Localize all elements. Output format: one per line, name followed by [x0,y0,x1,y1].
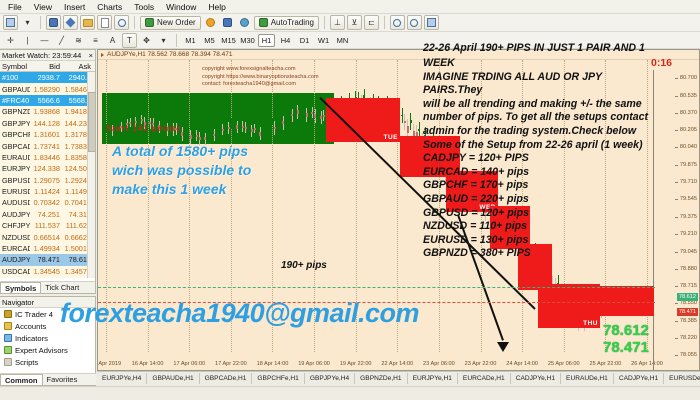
market-watch-row[interactable]: AUDJPYe78.47178.612 [0,254,95,265]
navigator-item-scripts[interactable]: Scripts [0,356,95,368]
expert-advisors-icon [4,346,12,354]
scrollbar-thumb[interactable] [88,92,96,152]
bid-cell: 0.70342 [30,198,62,207]
scripts-icon [4,358,12,366]
bid-cell: 1.73741 [30,142,62,151]
column-header-ask[interactable]: Ask [62,62,93,71]
navigator-label-2: Indicators [15,334,48,343]
market-watch-row[interactable]: EURUSDe1.114241.11498 [0,186,95,197]
symbol-cell: GBPNZDe [0,107,30,116]
bid-cell: 1.93868 [30,107,62,116]
menu-item-insert[interactable]: Insert [58,2,91,12]
symbol-cell: GBPJPYe [0,119,30,128]
promo-line-8: GBPCHF = 170+ pips [423,179,655,193]
symbol-cell: AUDUSDe [0,198,30,207]
start-trend-label: Start 141 points [106,124,182,133]
promo-line-0: WEEK [423,57,655,71]
market-watch-row[interactable]: CHFJPYe111.537111.627 [0,220,95,231]
promo-line-10: GBPUSD = 120+ pips [423,207,655,221]
navigator-label-0: IC Trader 4 [15,310,53,319]
bid-cell: 111.537 [30,221,62,230]
zoom-in-icon[interactable] [390,15,405,30]
period-m1[interactable]: M1 [182,34,199,47]
market-watch-row[interactable]: #FRC405566.65568.7 [0,95,95,106]
big-bid-price: 78.471 [603,339,649,356]
clock-label: 0:16 [651,57,672,69]
arrow-head-icon [497,342,509,352]
promo-line-4: admin for the trading system.Check below [423,125,655,139]
bid-cell: 1.29075 [30,176,62,185]
zoom-chart-icon[interactable] [114,15,129,30]
market-watch-row[interactable]: EURNZDe1.673501.67520 [0,277,95,278]
symbol-cell: GBPCADe [0,142,30,151]
metaeditor-icon[interactable] [237,15,252,30]
bid-cell: 1.83446 [30,153,62,162]
crosshair-icon[interactable] [63,15,78,30]
status-bar [0,386,700,400]
symbol-cell: AUDJPYe [0,210,30,219]
market-watch-rows: #1002938.72940.5GBPAUDe1.582901.58468#FR… [0,72,95,278]
zoom-out-icon[interactable] [407,15,422,30]
period-h1[interactable]: H1 [258,34,275,47]
bar-chart-icon[interactable] [46,15,61,30]
tile-windows-icon[interactable] [424,15,439,30]
toolbar-separator-5 [176,34,177,47]
save-icon[interactable] [3,15,18,30]
period-w1[interactable]: W1 [315,34,332,47]
bid-cell: 1.49934 [30,244,62,253]
chart-title: AUDJPYe,H1 78.562 78.668 78.394 78.471 [107,51,233,58]
menu-item-view[interactable]: View [28,2,58,12]
market-watch-row[interactable]: NZDUSDe0.665140.66623 [0,231,95,242]
horizontal-line-icon[interactable]: — [37,33,52,48]
symbol-cell: GBPAUDe [0,85,30,94]
big-ask-price: 78.612 [603,322,649,339]
symbol-cell: EURUSDe [0,187,30,196]
copyright-line-1: copyright www.forexsignalteacha.com [202,66,296,74]
promo-line-5: Some of the Setup from 22-26 april (1 we… [423,139,655,153]
pips-label: 190+ pips [281,260,327,271]
indicator-list-icon[interactable]: ⊥ [330,15,345,30]
bid-cell: 0.66514 [30,233,62,242]
new-order-button[interactable]: New Order [140,16,201,30]
market-watch-row[interactable]: GBPCHFe1.316011.31789 [0,129,95,140]
promo-line-2: will be all trending and making +/- the … [423,98,655,112]
copyright-line-2: copyright https://www.binaryoptionsteach… [202,74,319,82]
navigator-item-indicators[interactable]: Indicators [0,332,95,344]
toolbar-separator-3 [324,16,325,29]
promo-line-6: CADJPY = 120+ PIPS [423,152,655,166]
main-toolbar: ▾ New Order AutoTrading ⊥ ⊻ ⊏ [0,14,700,32]
chart-tab-gbpcade-h1[interactable]: GBPCADe,H1 [200,373,253,384]
symbol-cell: USDCADe [0,267,30,276]
period-d1[interactable]: D1 [296,34,313,47]
bid-cell: 1.58290 [30,85,62,94]
promo-line-7: EURCAD = 140+ pips [423,166,655,180]
market-watch-row[interactable]: GBPUSDe1.290751.29241 [0,175,95,186]
navigator-tabs: Common Favorites [0,373,96,385]
chart-tab-eurjpye-h4[interactable]: EURJPYe,H4 [97,373,147,384]
symbol-cell: #FRC40 [0,96,30,105]
period-separator-icon[interactable]: ⊻ [347,15,362,30]
market-watch-header: Symbol Bid Ask [0,61,95,72]
column-header-symbol[interactable]: Symbol [0,62,30,71]
chart-tab-eurjpye-h1[interactable]: EURJPYe,H1 [408,373,458,384]
menu-bar: File View Insert Charts Tools Window Hel… [0,0,700,14]
chart-tab-gbpaude-h1[interactable]: GBPAUDe,H1 [147,373,199,384]
line-chart-icon[interactable] [97,15,112,30]
market-watch-panel: Market Watch: 23:59:44 × Symbol Bid Ask … [0,49,96,294]
shapes-dropdown-icon[interactable]: ▾ [156,33,171,48]
book-icon [4,310,12,318]
autotrading-label: AutoTrading [271,18,314,27]
promo-line-9: GBPAUD = 220+ pips [423,193,655,207]
email-watermark: forexteacha1940@gmail.com [60,298,419,329]
menu-item-tools[interactable]: Tools [128,2,160,12]
autotrading-button[interactable]: AutoTrading [254,16,319,30]
toolbar-separator [40,16,41,29]
alert-icon[interactable] [203,15,218,30]
period-h4[interactable]: H4 [277,34,294,47]
market-watch-row[interactable]: EURAUDe1.834461.83586 [0,152,95,163]
new-order-label: New Order [157,18,196,27]
symbol-cell: EURJPYe [0,164,30,173]
text-tool-label: A [110,36,115,45]
market-watch-row[interactable]: GBPJPYe144.128144.236 [0,118,95,129]
market-watch-row[interactable]: GBPNZDe1.938681.94182 [0,106,95,117]
bid-cell: 1.34545 [30,267,62,276]
promo-line-11: NZDUSD = 110+ pips [423,220,655,234]
toolbar-separator-2 [134,16,135,29]
navigator-item-expert-advisors[interactable]: Expert Advisors [0,344,95,356]
market-watch-row[interactable]: EURCADe1.499341.50013 [0,243,95,254]
fibonacci-icon[interactable]: ≡ [88,33,103,48]
menu-item-window[interactable]: Window [160,2,202,12]
menu-item-file[interactable]: File [2,2,28,12]
market-watch-row[interactable]: AUDUSDe0.703420.70418 [0,197,95,208]
chart-tab-euraude-h1[interactable]: EURAUDe,H1 [561,373,614,384]
symbol-cell: AUDJPYe [0,255,30,264]
vertical-line-icon[interactable]: | [20,33,35,48]
market-watch-row[interactable]: GBPCADe1.737411.73834 [0,140,95,151]
promo-text-block: WEEKIMAGINE TRDING ALL AUD OR JPY PAIRS.… [423,57,655,261]
toolbar-separator-4 [384,16,385,29]
menu-item-help[interactable]: Help [202,2,231,12]
period-m5[interactable]: M5 [201,34,218,47]
candlestick-icon[interactable] [80,15,95,30]
text-label-icon[interactable]: T [122,33,137,48]
symbol-cell: #100 [0,73,30,82]
text-tool-icon[interactable]: A [105,33,120,48]
bid-cell: 78.471 [30,255,62,264]
bid-cell: 124.338 [30,164,62,173]
chart-tabs-bar: EURJPYe,H4GBPAUDe,H1GBPCADe,H1GBPCHFe,H1… [97,371,700,384]
chevron-right-icon[interactable] [101,53,104,57]
bid-cell: 2938.7 [30,73,62,82]
menu-item-charts[interactable]: Charts [91,2,128,12]
chart-tab-gbpjpye-h4[interactable]: GBPJPYe,H4 [305,373,355,384]
bid-cell: 144.128 [30,119,62,128]
bid-cell: 1.11424 [30,187,62,196]
blue-note-line-1: A total of 1580+ pips [112,142,248,161]
terminal-icon[interactable] [220,15,235,30]
accounts-icon [4,322,12,330]
mt4-application-window: File View Insert Charts Tools Window Hel… [0,0,700,400]
symbol-cell: GBPUSDe [0,176,30,185]
symbol-cell: EURAUDe [0,153,30,162]
symbol-cell: GBPCHFe [0,130,30,139]
symbol-cell: EURCADe [0,244,30,253]
tab-common[interactable]: Common [0,374,43,385]
promo-line-13: GBPNZD = 380+ PIPS [423,247,655,261]
tab-favorites[interactable]: Favorites [43,374,82,385]
market-watch-row[interactable]: AUDJPYe74.25174.318 [0,209,95,220]
tab-symbols[interactable]: Symbols [0,282,41,293]
market-watch-tabs: Symbols Tick Chart [0,281,96,293]
shapes-icon[interactable]: ✥ [139,33,154,48]
column-header-bid[interactable]: Bid [30,62,62,71]
chart-tab-cadjpye-h1[interactable]: CADJPYe,H1 [511,373,561,384]
market-watch-scrollbar[interactable] [87,72,95,278]
navigator-label-3: Expert Advisors [15,346,68,355]
autotrading-icon [259,18,268,27]
market-watch-titlebar: Market Watch: 23:59:44 × [0,50,95,61]
chevron-down-icon[interactable]: ▾ [20,15,35,30]
blue-note-line-3: make this 1 week [112,180,226,199]
equidistant-channel-icon[interactable]: ≋ [71,33,86,48]
new-order-icon [145,18,154,27]
headline-annotation: 22-26 April 190+ PIPS IN JUST 1 PAIR AND… [423,42,693,54]
bid-cell: 74.251 [30,210,62,219]
market-watch-row[interactable]: GBPAUDe1.582901.58468 [0,83,95,94]
period-mn[interactable]: MN [334,34,351,47]
grid-toggle-icon[interactable]: ⊏ [364,15,379,30]
indicators-icon [4,334,12,342]
symbol-cell: NZDUSDe [0,233,30,242]
symbol-cell: CHFJPYe [0,221,30,230]
bid-cell: 1.31601 [30,130,62,139]
close-icon[interactable]: × [89,51,93,60]
tab-tick-chart[interactable]: Tick Chart [41,282,83,293]
bid-cell: 5566.6 [30,96,62,105]
blue-note-line-2: wich was possible to [112,161,251,180]
market-watch-row[interactable]: #1002938.72940.5 [0,72,95,83]
market-watch-row[interactable]: EURJPYe124.338124.500 [0,163,95,174]
chart-tab-cadjpye-h1[interactable]: CADJPYe,H1 [614,373,664,384]
navigator-label-1: Accounts [15,322,46,331]
chart-tab-gbpchfe-h1[interactable]: GBPCHFe,H1 [252,373,304,384]
promo-line-3: number of pips. To get all the setups co… [423,111,655,125]
promo-line-12: EURUSD = 130+ pips [423,234,655,248]
price-level-ask [98,287,655,288]
period-m30[interactable]: M30 [239,34,256,47]
period-m15[interactable]: M15 [220,34,237,47]
cursor-icon[interactable]: ✛ [3,33,18,48]
promo-line-1: IMAGINE TRDING ALL AUD OR JPY PAIRS.They [423,71,655,98]
market-watch-title: Market Watch: 23:59:44 [2,51,81,60]
market-watch-row[interactable]: USDCADe1.345451.34572 [0,266,95,277]
chart-tab-gbpnzde-h1[interactable]: GBPNZDe,H1 [355,373,407,384]
copyright-line-3: contact: forexteacha1940@gmail.com [202,81,296,89]
trendline-icon[interactable]: ╱ [54,33,69,48]
chart-tab-eurusde-h1[interactable]: EURUSDe,H1 [664,373,700,384]
chart-tab-eurcade-h1[interactable]: EURCADe,H1 [458,373,511,384]
navigator-label-4: Scripts [15,358,38,367]
